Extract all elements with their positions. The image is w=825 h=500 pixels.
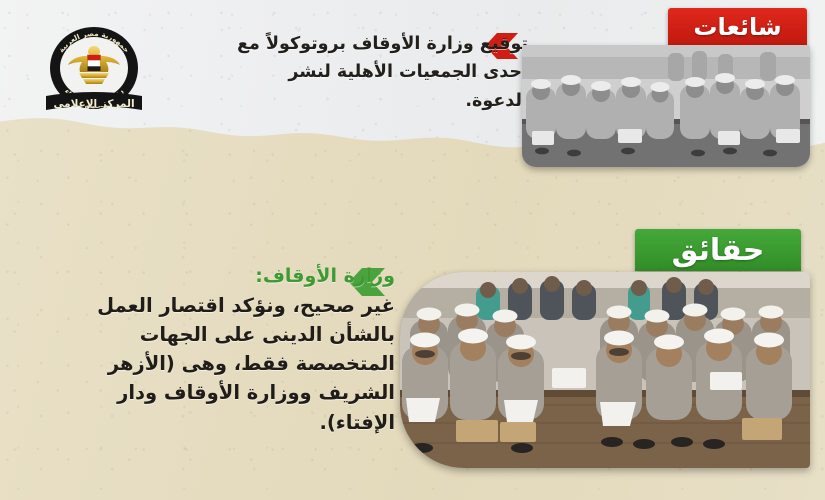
infographic-canvas: جمهورية مصر العربية رئاسة مجلس الوزراء ا… [0,0,825,500]
badge-facts: حقائق [635,229,801,271]
fact-photo-color [400,272,810,468]
fact-text: غير صحيح، ونؤكد اقتصار العمل بالشأن الدي… [35,291,395,437]
egypt-cabinet-media-center-logo: جمهورية مصر العربية رئاسة مجلس الوزراء ا… [38,18,150,122]
svg-text:المركز الإعلامي: المركز الإعلامي [53,98,134,110]
rumor-photo-grayscale [522,45,810,167]
badge-rumors-label: شائعات [693,13,781,41]
badge-facts-label: حقائق [672,233,765,268]
fact-text-block: وزارة الأوقاف: غير صحيح، ونؤكد اقتصار ال… [35,262,395,437]
fact-heading: وزارة الأوقاف: [35,262,395,291]
badge-rumors: شائعات [668,8,807,45]
rumor-text: توقيع وزارة الأوقاف بروتوكولاً مع إحدى ا… [234,30,528,115]
